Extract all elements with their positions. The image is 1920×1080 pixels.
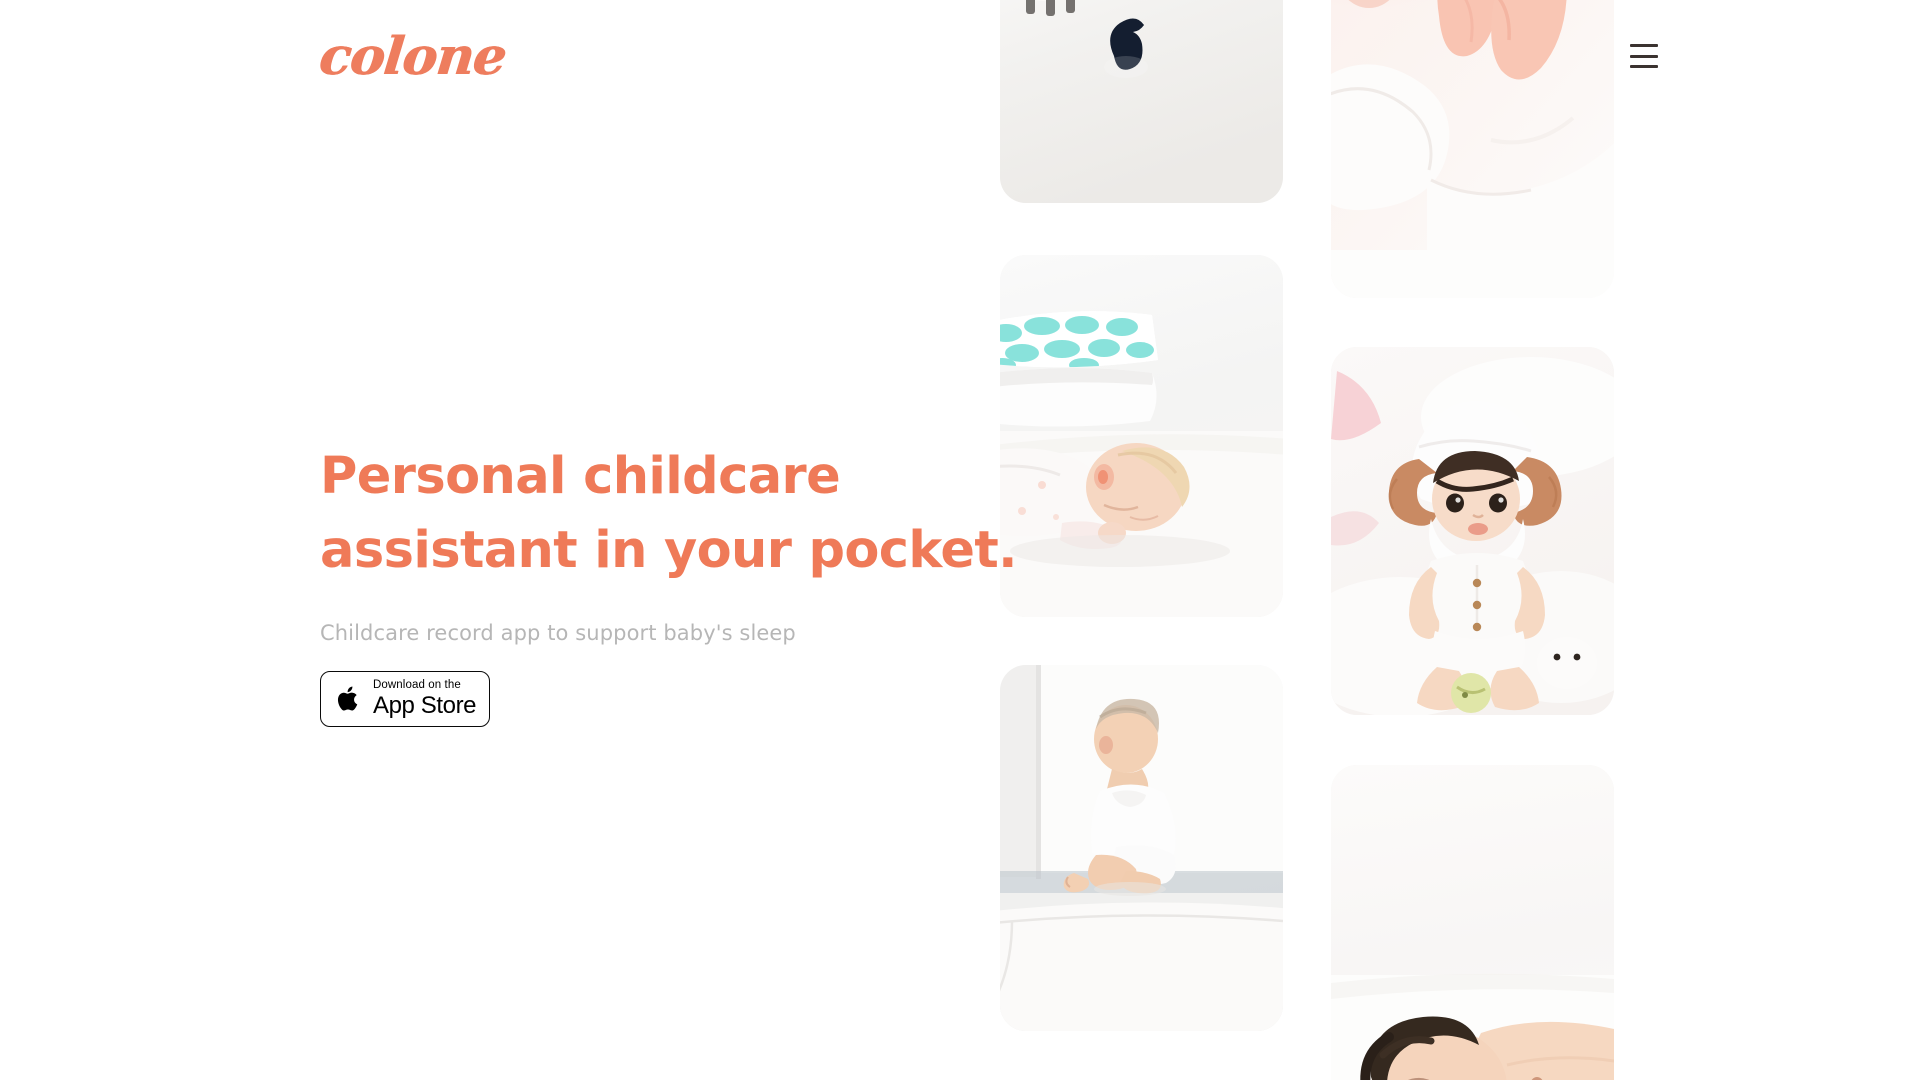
photo-sitting-baby[interactable] (1000, 665, 1283, 1031)
photo-sleeping-baby-crib[interactable] (1000, 255, 1283, 617)
hamburger-bar-1 (1630, 44, 1658, 47)
hero-subtitle: Childcare record app to support baby's s… (320, 619, 980, 647)
headline-line-2: assistant in your pocket. (320, 514, 980, 588)
brand-logo[interactable]: colone (317, 26, 509, 87)
headline-line-1: Personal childcare (320, 440, 980, 514)
apple-logo-icon (337, 684, 362, 714)
photo-baby-feet[interactable] (1331, 0, 1614, 298)
hamburger-bar-2 (1630, 55, 1658, 58)
page-title: Personal childcare assistant in your poc… (320, 440, 980, 588)
photo-lamb-hat-baby[interactable] (1331, 347, 1614, 715)
photo-sleeping-newborn[interactable] (1331, 765, 1614, 1080)
photo-sheep-mobile[interactable] (1000, 0, 1283, 203)
hamburger-menu-icon[interactable] (1630, 44, 1658, 68)
landing-page: colone Personal childcare assistant in y… (0, 0, 1920, 1080)
app-store-big-label: App Store (373, 693, 476, 718)
hero-section: Personal childcare assistant in your poc… (320, 440, 980, 647)
hamburger-bar-3 (1630, 65, 1658, 68)
app-store-small-label: Download on the (373, 680, 476, 692)
app-store-download-button[interactable]: Download on the App Store (320, 671, 490, 727)
app-store-labels: Download on the App Store (373, 680, 476, 719)
